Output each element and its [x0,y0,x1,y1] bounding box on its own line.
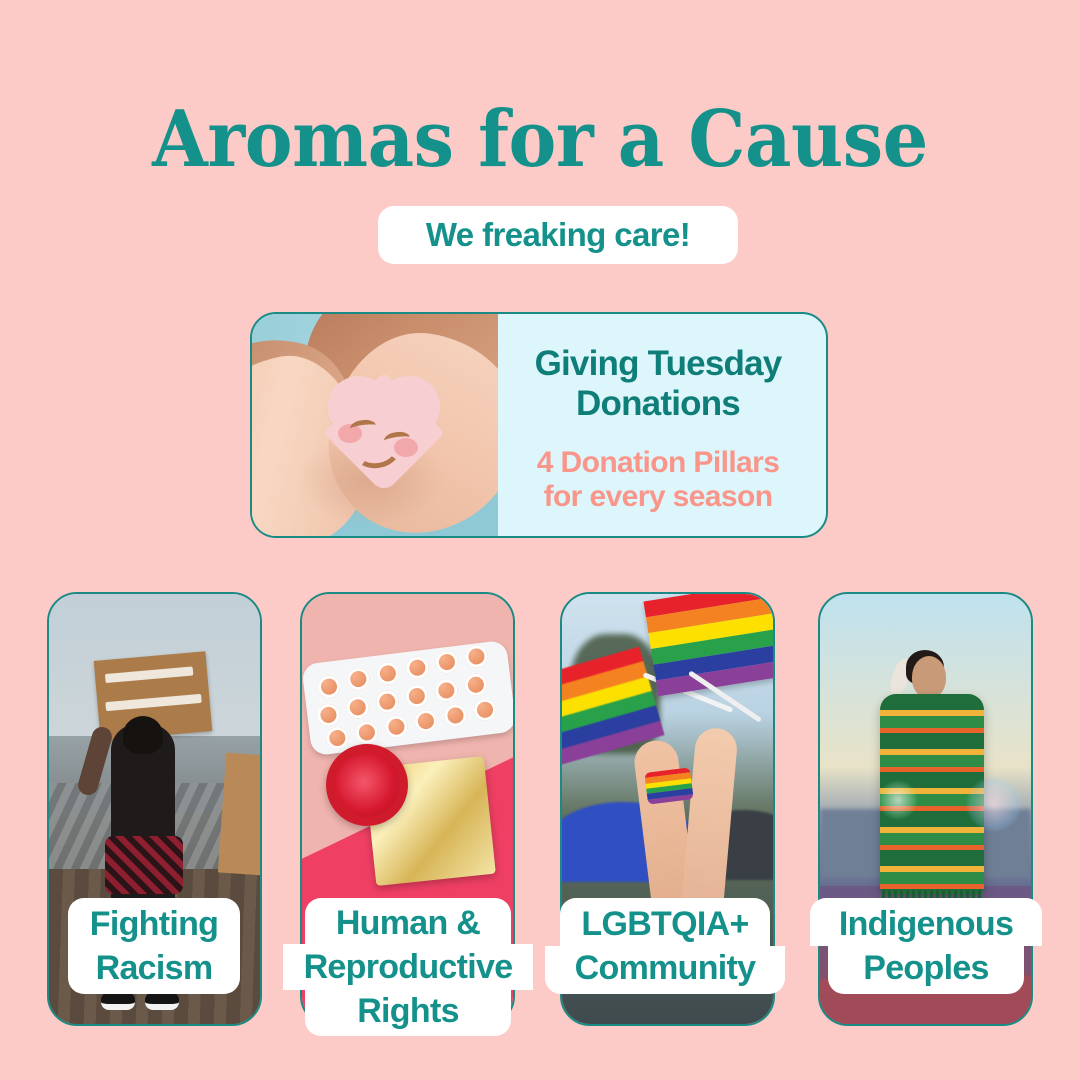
banner-title-line-2: Donations [504,384,812,424]
pillar-label-line: Indigenous [810,898,1042,946]
pillar-label-line: Reproductive [283,944,533,990]
protester-skirt [105,836,183,894]
shoe-left [101,992,135,1010]
lens-flare-b [966,776,1022,832]
tagline-badge: We freaking care! [378,206,738,264]
hands-holding-heart-photo [252,314,498,536]
pillar-label-line: Rights [305,990,511,1036]
pill-blister-pack-icon [302,640,513,756]
pillar-label-line: Community [545,946,785,994]
pillar-label-line: LGBTQIA+ [560,898,770,946]
page-title: Aromas for a Cause [43,96,1037,184]
smiling-heart-icon [328,376,440,480]
pillar-label-lgbtqia-community: LGBTQIA+ Community [545,898,785,994]
pillar-label-line: Racism [68,946,240,994]
rainbow-wristband-icon [644,767,694,804]
giving-tuesday-banner: Giving Tuesday Donations 4 Donation Pill… [250,312,828,538]
pillar-label-human-reproductive-rights: Human & Reproductive Rights [283,898,533,1036]
pillar-label-fighting-racism: Fighting Racism [68,898,240,994]
banner-subtitle-line-2: for every season [504,480,812,514]
banner-text-block: Giving Tuesday Donations 4 Donation Pill… [498,314,826,536]
protester-body [111,724,175,924]
protester-hair [123,716,163,754]
pillar-label-line: Peoples [828,946,1024,994]
pillar-label-line: Fighting [68,898,240,946]
shoe-right [145,992,179,1010]
tagline-text: We freaking care! [426,216,690,254]
lens-flare-a [878,780,918,820]
banner-subtitle: 4 Donation Pillars for every season [504,446,812,526]
second-sign-icon [218,753,260,876]
pride-flag-main-icon [643,594,773,696]
red-condom-icon [326,744,408,826]
banner-subtitle-line-1: 4 Donation Pillars [504,446,812,480]
pillar-label-indigenous-peoples: Indigenous Peoples [810,898,1042,994]
head [912,656,946,698]
banner-title: Giving Tuesday Donations [504,328,812,424]
pillar-label-line: Human & [305,898,511,944]
banner-title-line-1: Giving Tuesday [504,344,812,384]
